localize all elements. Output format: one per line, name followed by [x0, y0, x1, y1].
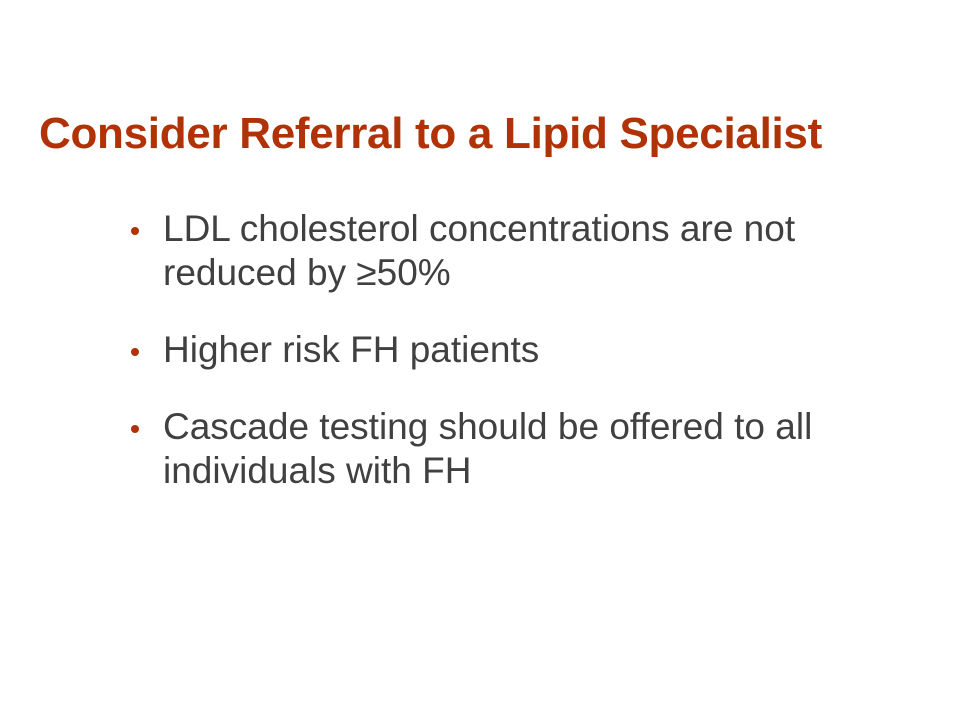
list-item: Higher risk FH patients — [128, 328, 848, 372]
slide-title: Consider Referral to a Lipid Specialist — [39, 108, 929, 160]
bullet-dot-icon — [131, 227, 139, 235]
bullet-dot-icon — [131, 348, 139, 356]
list-item-text: LDL cholesterol concentrations are not r… — [163, 207, 848, 295]
list-item-text: Cascade testing should be offered to all… — [163, 405, 848, 493]
bullet-dot-icon — [131, 425, 139, 433]
list-item: LDL cholesterol concentrations are not r… — [128, 207, 848, 295]
presentation-slide: Consider Referral to a Lipid Specialist … — [0, 0, 960, 720]
list-item: Cascade testing should be offered to all… — [128, 405, 848, 493]
list-item-text: Higher risk FH patients — [163, 328, 848, 372]
bullet-list: LDL cholesterol concentrations are not r… — [128, 207, 848, 493]
